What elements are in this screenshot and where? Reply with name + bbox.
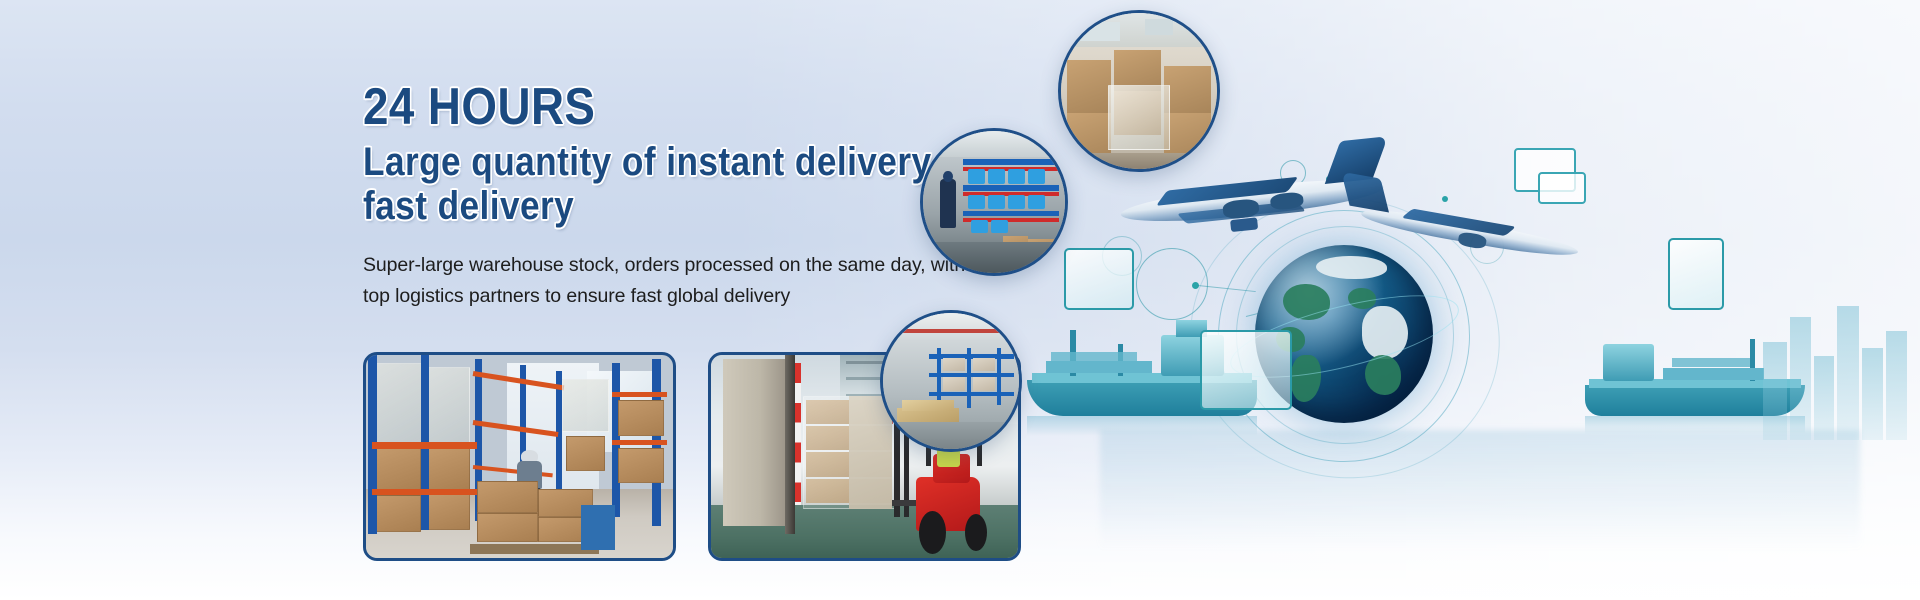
headline-line-2: Large quantity of instant delivery <box>363 140 944 184</box>
global-logistics-illustration <box>1040 0 1920 600</box>
hero-banner: 24 HOURS Large quantity of instant deliv… <box>0 0 1920 600</box>
description-paragraph: Super-large warehouse stock, orders proc… <box>363 250 978 312</box>
headline-line-3: fast delivery <box>363 184 944 228</box>
carton-pallets-inset[interactable] <box>1058 10 1220 172</box>
page-title: 24 HOURS <box>363 80 944 134</box>
blue-bin-shelving-inset[interactable] <box>920 128 1068 276</box>
monitor-card <box>1668 238 1724 310</box>
shipment-panel-card <box>1200 330 1292 410</box>
warehouse-racking-photo[interactable] <box>363 352 676 561</box>
goods-staging-inset[interactable] <box>880 310 1022 452</box>
city-skyline-graphic <box>1760 300 1910 440</box>
message-card-small <box>1538 172 1586 204</box>
tracking-screen-card <box>1064 248 1134 310</box>
warehouse-racking-scene <box>366 355 673 558</box>
